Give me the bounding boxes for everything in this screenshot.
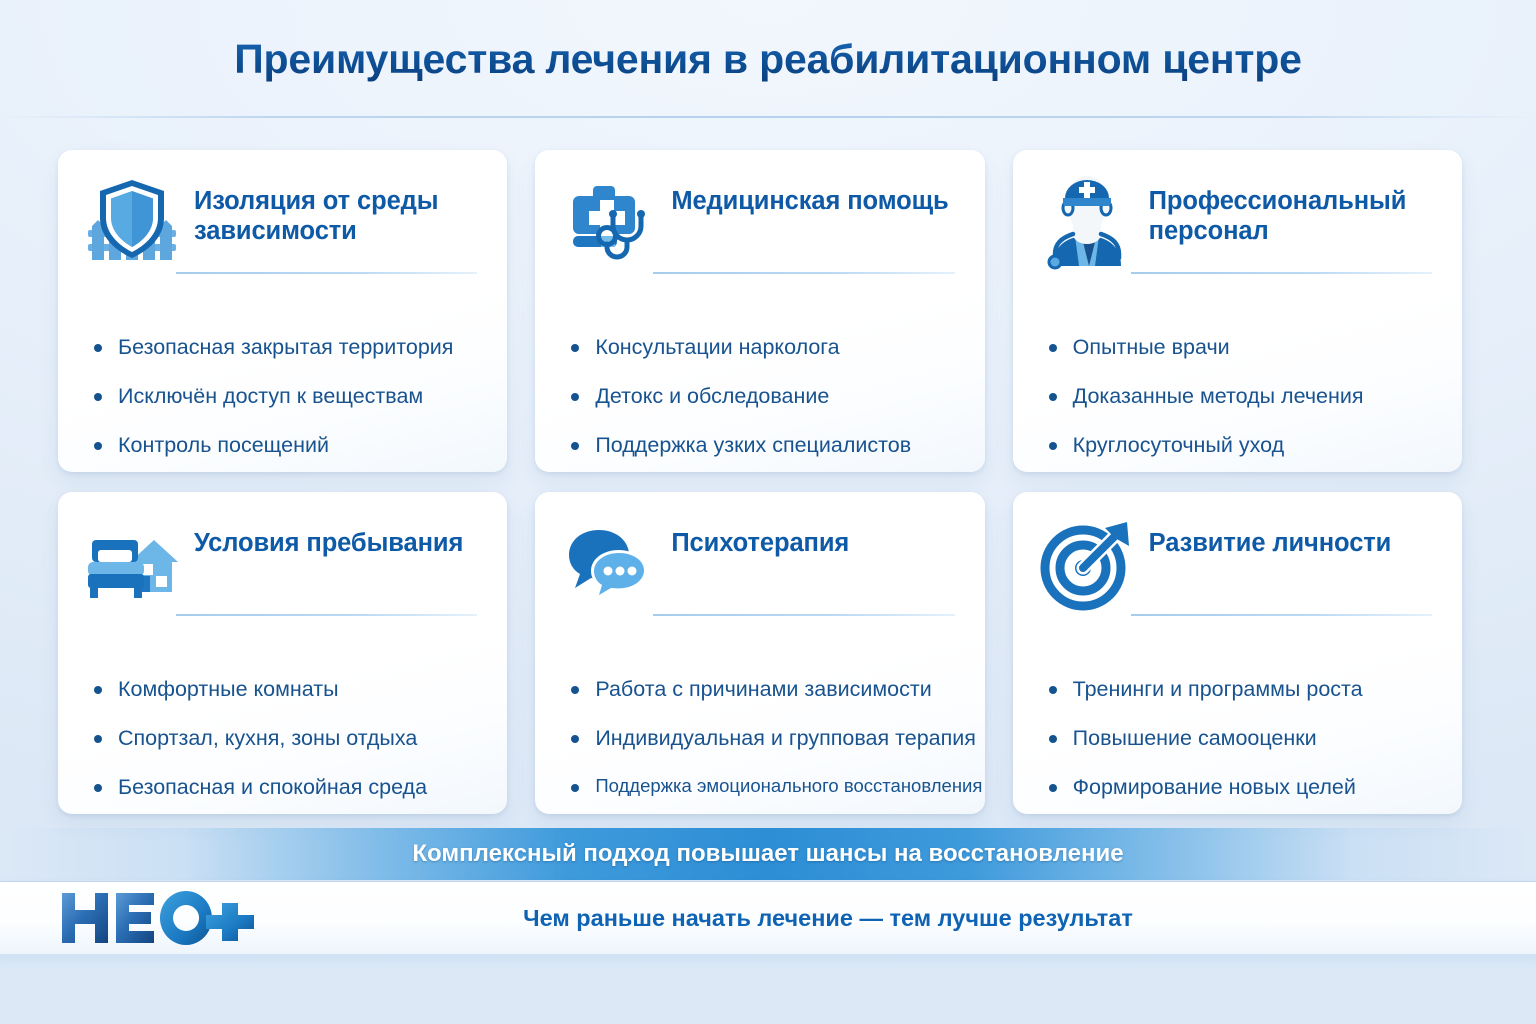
card-title: Психотерапия (671, 520, 849, 558)
benefit-card-professional-staff[interactable]: Профессиональный персонал Опытные врачи … (1013, 150, 1462, 472)
benefit-card-personal-growth[interactable]: Развитие личности Тренинги и программы р… (1013, 492, 1462, 814)
card-divider (1131, 614, 1432, 616)
bed-house-icon (84, 516, 180, 612)
benefit-list: Тренинги и программы роста Повышение сам… (1043, 676, 1432, 801)
list-item: Комфортные комнаты (88, 676, 477, 703)
benefit-list: Работа с причинами зависимости Индивидуа… (565, 676, 954, 797)
card-header: Медицинская помощь (565, 178, 954, 274)
card-header: Условия пребывания (88, 520, 477, 616)
list-item: Безопасная и спокойная среда (88, 774, 477, 801)
card-divider (176, 614, 477, 616)
doctor-icon (1039, 174, 1135, 270)
list-item: Формирование новых целей (1043, 774, 1432, 801)
card-divider (653, 272, 954, 274)
card-header: Психотерапия (565, 520, 954, 616)
list-item: Опытные врачи (1043, 334, 1432, 361)
benefit-card-accommodation[interactable]: Условия пребывания Комфортные комнаты Сп… (58, 492, 507, 814)
benefit-list: Комфортные комнаты Спортзал, кухня, зоны… (88, 676, 477, 801)
header-divider (0, 116, 1536, 118)
card-header: Профессиональный персонал (1043, 178, 1432, 274)
neo-plus-logo[interactable] (56, 887, 256, 949)
footer-glow (0, 954, 1536, 970)
list-item: Повышение самооценки (1043, 725, 1432, 752)
card-divider (653, 614, 954, 616)
card-title: Развитие личности (1149, 520, 1392, 558)
card-divider (1131, 272, 1432, 274)
list-item: Безопасная закрытая территория (88, 334, 477, 361)
card-header: Развитие личности (1043, 520, 1432, 616)
list-item: Спортзал, кухня, зоны отдыха (88, 725, 477, 752)
banner-text: Комплексный подход повышает шансы на вос… (412, 840, 1123, 868)
card-title: Условия пребывания (194, 520, 463, 558)
benefit-list: Опытные врачи Доказанные методы лечения … (1043, 334, 1432, 459)
list-item: Исключён доступ к веществам (88, 383, 477, 410)
page-footer: Чем раньше начать лечение — тем лучше ре… (0, 882, 1536, 954)
list-item: Детокс и обследование (565, 383, 954, 410)
card-title: Изоляция от среды зависимости (194, 178, 477, 246)
list-item: Поддержка эмоционального восстановления (565, 774, 954, 797)
benefit-list: Безопасная закрытая территория Исключён … (88, 334, 477, 459)
list-item: Тренинги и программы роста (1043, 676, 1432, 703)
page-header: Преимущества лечения в реабилитационном … (0, 0, 1536, 118)
benefit-card-medical-help[interactable]: Медицинская помощь Консультации нарколог… (535, 150, 984, 472)
benefit-card-psychotherapy[interactable]: Психотерапия Работа с причинами зависимо… (535, 492, 984, 814)
highlight-banner: Комплексный подход повышает шансы на вос… (0, 828, 1536, 880)
list-item: Поддержка узких специалистов (565, 432, 954, 459)
list-item: Контроль посещений (88, 432, 477, 459)
speech-bubbles-icon (561, 516, 657, 612)
card-title: Медицинская помощь (671, 178, 948, 216)
medical-kit-stethoscope-icon (561, 174, 657, 270)
target-arrow-icon (1039, 516, 1135, 612)
card-title: Профессиональный персонал (1149, 178, 1432, 246)
list-item: Консультации нарколога (565, 334, 954, 361)
benefit-list: Консультации нарколога Детокс и обследов… (565, 334, 954, 459)
shield-fence-icon (84, 174, 180, 270)
benefits-grid: Изоляция от среды зависимости Безопасная… (58, 150, 1462, 814)
list-item: Работа с причинами зависимости (565, 676, 954, 703)
card-header: Изоляция от среды зависимости (88, 178, 477, 274)
benefit-card-isolation[interactable]: Изоляция от среды зависимости Безопасная… (58, 150, 507, 472)
card-divider (176, 272, 477, 274)
list-item: Доказанные методы лечения (1043, 383, 1432, 410)
page-title: Преимущества лечения в реабилитационном … (234, 36, 1302, 83)
list-item: Индивидуальная и групповая терапия (565, 725, 954, 752)
list-item: Круглосуточный уход (1043, 432, 1432, 459)
